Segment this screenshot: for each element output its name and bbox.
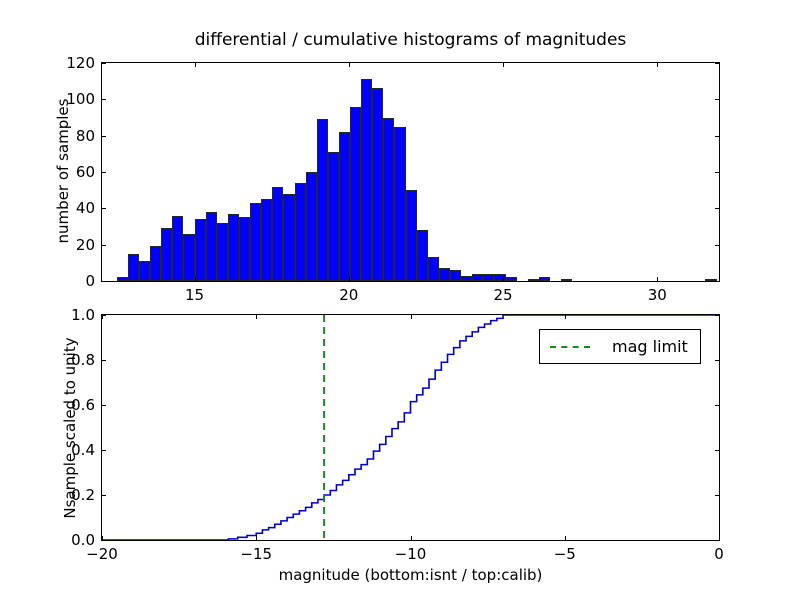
x-tick-label: 20 <box>339 286 358 304</box>
bottom-plot-y-axis-label: Nsample scaled to unity <box>61 298 79 558</box>
x-tick-mark <box>256 315 257 319</box>
x-tick-mark <box>565 536 566 540</box>
histogram-bar <box>128 254 139 281</box>
bottom-plot-axes: mag limit <box>101 314 720 541</box>
y-tick-mark <box>715 315 719 316</box>
y-tick-mark <box>102 360 106 361</box>
histogram-bar <box>306 172 317 281</box>
x-tick-label: 30 <box>648 286 667 304</box>
x-tick-label: −15 <box>240 545 272 563</box>
x-tick-label: −5 <box>554 545 576 563</box>
y-tick-mark <box>102 495 106 496</box>
top-plot-axes <box>101 62 720 282</box>
x-tick-label: 15 <box>185 286 204 304</box>
histogram-bar <box>172 216 183 281</box>
y-tick-mark <box>102 208 106 209</box>
y-tick-label: 100 <box>66 90 95 108</box>
y-tick-mark <box>102 245 106 246</box>
histogram-bar <box>383 118 394 282</box>
histogram-bar <box>350 107 361 281</box>
y-tick-label: 0.6 <box>71 396 95 414</box>
y-tick-label: 0.2 <box>71 486 95 504</box>
y-tick-mark <box>102 63 106 64</box>
y-tick-label: 120 <box>66 54 95 72</box>
y-tick-mark <box>102 136 106 137</box>
legend-label-mag-limit: mag limit <box>612 337 688 356</box>
figure-title: differential / cumulative histograms of … <box>101 30 720 50</box>
y-tick-mark <box>715 495 719 496</box>
histogram-bar <box>450 270 461 281</box>
legend-box[interactable]: mag limit <box>539 329 701 364</box>
y-tick-mark <box>102 172 106 173</box>
y-tick-mark <box>715 99 719 100</box>
y-tick-mark <box>102 450 106 451</box>
histogram-bar <box>195 219 206 281</box>
y-tick-label: 60 <box>76 163 95 181</box>
histogram-bar <box>117 277 128 281</box>
histogram-bar <box>161 228 172 281</box>
histogram-bar <box>439 268 450 281</box>
x-tick-mark <box>195 63 196 67</box>
x-tick-mark <box>349 63 350 67</box>
histogram-bar <box>461 276 472 281</box>
histogram-bar <box>317 119 328 281</box>
histogram-bar <box>506 277 517 281</box>
y-tick-mark <box>715 208 719 209</box>
histogram-bar <box>417 230 428 281</box>
histogram-bar <box>250 203 261 281</box>
x-tick-mark <box>657 277 658 281</box>
x-tick-label: 0 <box>714 545 724 563</box>
histogram-bar <box>394 127 405 281</box>
mag-limit-line-icon <box>550 346 590 348</box>
y-tick-mark <box>102 315 106 316</box>
histogram-bar <box>261 199 272 281</box>
histogram-bar <box>372 88 383 281</box>
y-tick-label: 0 <box>85 272 95 290</box>
y-tick-mark <box>715 450 719 451</box>
histogram-bar <box>361 79 372 281</box>
x-tick-mark <box>657 63 658 67</box>
y-tick-mark <box>715 245 719 246</box>
y-tick-mark <box>102 540 106 541</box>
x-tick-label: −10 <box>395 545 427 563</box>
y-tick-label: 0.8 <box>71 351 95 369</box>
y-tick-mark <box>715 360 719 361</box>
histogram-bar <box>183 234 194 281</box>
y-tick-label: 20 <box>76 236 95 254</box>
bottom-plot-x-axis-label: magnitude (bottom:isnt / top:calib) <box>101 566 720 584</box>
x-tick-mark <box>503 63 504 67</box>
histogram-bar <box>428 257 439 281</box>
y-tick-mark <box>715 172 719 173</box>
x-tick-mark <box>719 536 720 540</box>
x-tick-label: 25 <box>494 286 513 304</box>
histogram-bar <box>328 152 339 281</box>
histogram-bar <box>472 274 483 281</box>
histogram-bar <box>239 217 250 281</box>
histogram-bar <box>406 190 417 281</box>
histogram-bar <box>206 212 217 281</box>
histogram-bar <box>139 261 150 281</box>
y-tick-label: 40 <box>76 199 95 217</box>
y-tick-label: 1.0 <box>71 306 95 324</box>
figure-canvas: differential / cumulative histograms of … <box>0 0 800 600</box>
histogram-bar <box>150 246 161 281</box>
x-tick-mark <box>349 277 350 281</box>
histogram-bar <box>528 279 539 281</box>
y-tick-label: 80 <box>76 127 95 145</box>
histogram-bar <box>295 183 306 281</box>
x-tick-mark <box>719 315 720 319</box>
y-tick-mark <box>715 136 719 137</box>
x-tick-mark <box>195 277 196 281</box>
y-tick-mark <box>715 281 719 282</box>
y-tick-mark <box>102 405 106 406</box>
y-tick-mark <box>715 63 719 64</box>
histogram-bar <box>228 214 239 281</box>
histogram-bar <box>272 187 283 281</box>
histogram-bar <box>283 194 294 281</box>
y-tick-mark <box>102 99 106 100</box>
histogram-bar <box>561 279 572 281</box>
y-tick-mark <box>715 540 719 541</box>
histogram-bar <box>539 277 550 281</box>
x-tick-mark <box>411 536 412 540</box>
x-tick-mark <box>565 315 566 319</box>
histogram-bar <box>217 223 228 281</box>
y-tick-label: 0.0 <box>71 531 95 549</box>
x-tick-mark <box>411 315 412 319</box>
y-tick-label: 0.4 <box>71 441 95 459</box>
y-tick-mark <box>715 405 719 406</box>
histogram-bar <box>483 274 494 281</box>
x-tick-mark <box>503 277 504 281</box>
y-tick-mark <box>102 281 106 282</box>
x-tick-mark <box>256 536 257 540</box>
histogram-bar <box>339 132 350 281</box>
